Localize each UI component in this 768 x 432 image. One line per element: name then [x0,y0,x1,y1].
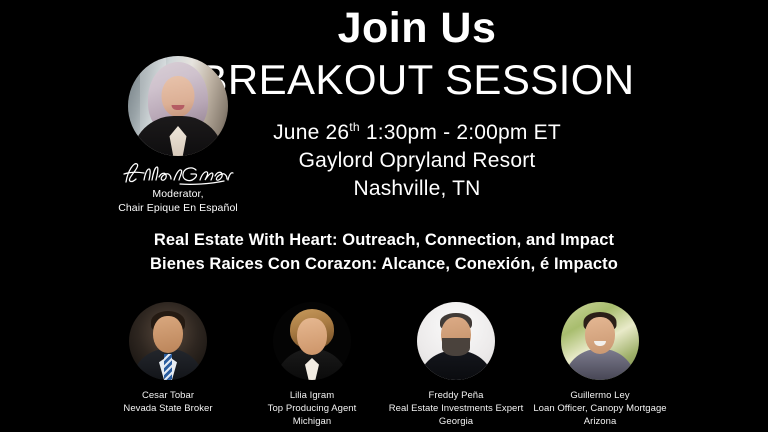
speaker-avatar [129,302,207,380]
speaker-beard [442,338,470,356]
speaker-location: Arizona [528,415,672,428]
speaker-avatar [273,302,351,380]
speaker-name: Lilia Igram [240,389,384,402]
moderator-role-line2: Chair Epique En Español [96,202,260,216]
speaker-card-freddy-pena: Freddy Peña Real Estate Investments Expe… [384,302,528,428]
event-date: June 26 [273,121,349,144]
speaker-face [585,317,615,354]
speaker-avatar [417,302,495,380]
speaker-card-cesar-tobar: Cesar Tobar Nevada State Broker [96,302,240,428]
speaker-title: Top Producing Agent [240,402,384,415]
event-time: 1:30pm - 2:00pm ET [366,121,561,144]
moderator-role-line1: Moderator, [96,188,260,202]
speaker-caption: Freddy Peña Real Estate Investments Expe… [384,389,528,428]
moderator-avatar [128,56,228,156]
speakers-row: Cesar Tobar Nevada State Broker Lilia Ig… [96,302,672,428]
speaker-card-guillermo-ley: Guillermo Ley Loan Officer, Canopy Mortg… [528,302,672,428]
speaker-avatar [561,302,639,380]
speaker-caption: Lilia Igram Top Producing Agent Michigan [240,389,384,428]
speaker-caption: Guillermo Ley Loan Officer, Canopy Mortg… [528,389,672,428]
speaker-card-lilia-igram: Lilia Igram Top Producing Agent Michigan [240,302,384,428]
event-poster: Join Us BREAKOUT SESSION June 26th 1:30p… [0,0,768,432]
speaker-title: Loan Officer, Canopy Mortgage [528,402,672,415]
speaker-location: Michigan [240,415,384,428]
moderator-face [162,76,195,117]
speaker-name: Cesar Tobar [96,389,240,402]
speaker-title: Nevada State Broker [96,402,240,415]
moderator-role: Moderator, Chair Epique En Español [96,188,260,215]
speaker-name: Freddy Peña [384,389,528,402]
speaker-caption: Cesar Tobar Nevada State Broker [96,389,240,415]
speaker-title: Real Estate Investments Expert [384,402,528,415]
speaker-name: Guillermo Ley [528,389,672,402]
speaker-location: Georgia [384,415,528,428]
session-title-spanish: Bienes Raices Con Corazon: Alcance, Cone… [0,253,768,277]
session-titles: Real Estate With Heart: Outreach, Connec… [0,229,768,277]
speaker-face [153,316,183,353]
moderator-block: Moderator, Chair Epique En Español [96,56,260,215]
session-title-english: Real Estate With Heart: Outreach, Connec… [0,229,768,253]
speaker-tie [164,354,172,380]
headline-join-us: Join Us [0,6,768,51]
speaker-face [297,318,327,355]
event-date-ordinal: th [349,120,360,134]
moderator-signature [96,158,260,188]
